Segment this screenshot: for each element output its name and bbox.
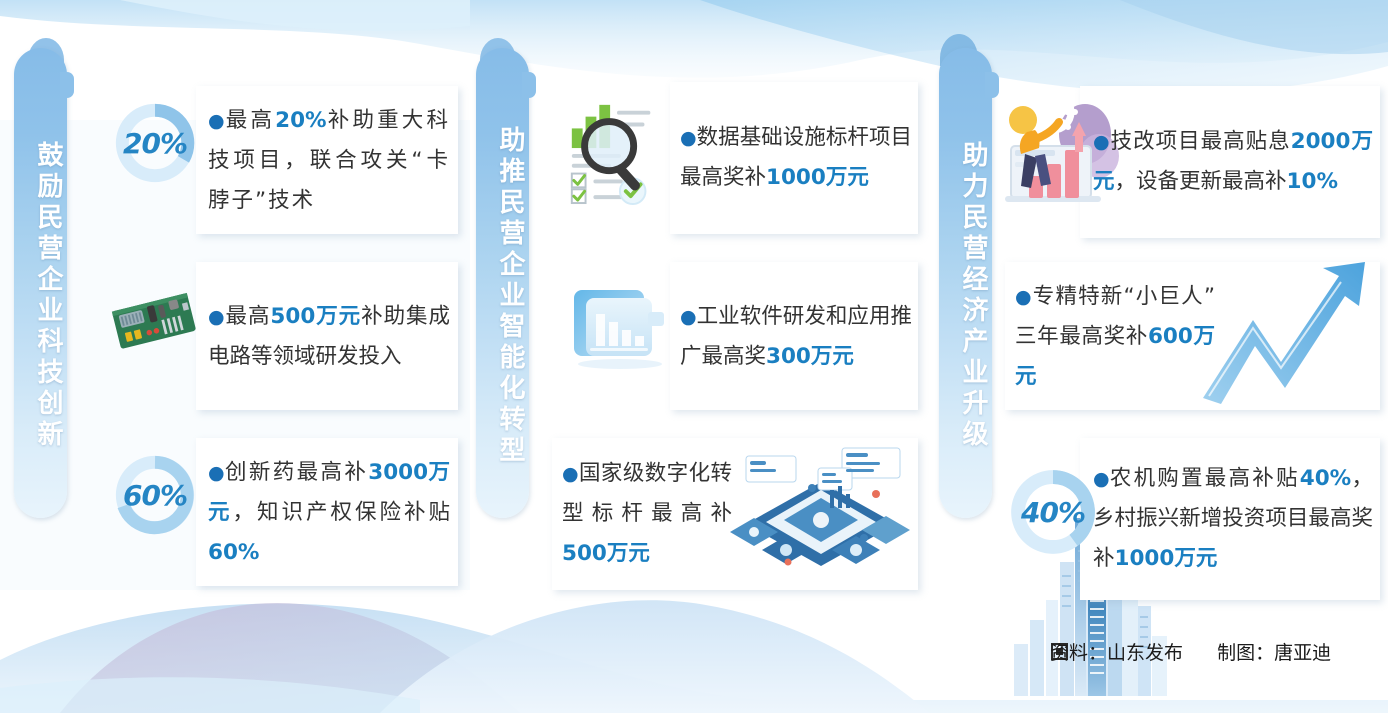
column-banner-label: 鼓励民营企业科技创新: [14, 48, 67, 518]
donut-chart-20: 20%: [112, 100, 198, 186]
donut-chart-40: 40%: [1007, 466, 1099, 558]
item-text: ●国家级数字化转型标杆最高补500万元: [562, 454, 732, 574]
item-text-value2: 10%: [1287, 169, 1338, 194]
bullet-icon: ●: [680, 306, 697, 328]
source-label: 资料：山东发布: [1050, 642, 1183, 664]
magnifier-checklist-icon: [562, 88, 670, 214]
item-text-lead: 技改项目最高贴息: [1111, 129, 1291, 154]
bullet-icon: ●: [208, 462, 225, 484]
item-text-value: 300万元: [766, 344, 854, 369]
item-text-lead: 最高: [226, 108, 275, 133]
card-text-block: ●农机购置最高补贴40%，乡村振兴新增投资项目最高奖补1000万元: [1093, 444, 1373, 594]
item-text-lead: 最高: [226, 304, 271, 329]
item-text-value: 1000万元: [766, 165, 869, 190]
item-text-value2: 60%: [208, 540, 259, 565]
card-text-block: ●国家级数字化转型标杆最高补500万元: [562, 444, 732, 584]
bullet-icon: ●: [208, 306, 226, 328]
column-industry-upgrade: 助力民营经济产业升级: [925, 0, 1388, 713]
donut-chart-60: 60%: [112, 452, 198, 538]
bullet-icon: ●: [1093, 131, 1111, 153]
card-text-block: ●最高500万元补助集成电路等领域研发投入: [208, 268, 450, 406]
card-text-block: ●专精特新“小巨人”三年最高奖补600万元: [1015, 268, 1215, 406]
column-intelligent-transformation: 助推民营企业智能化转型: [462, 0, 932, 713]
card-text-block: ●工业软件研发和应用推广最高奖300万元: [680, 268, 912, 406]
bullet-icon: ●: [1015, 286, 1033, 308]
item-text-lead: 国家级数字化转型标杆最高补: [562, 461, 732, 526]
item-text-lead: 创新药最高补: [225, 460, 368, 485]
item-text-value: 500万元: [270, 304, 361, 329]
bullet-icon: ●: [680, 127, 697, 149]
item-text: ●数据基础设施标杆项目最高奖补1000万元: [680, 118, 912, 198]
item-text-mid: ，知识产权保险补贴: [233, 500, 450, 525]
rising-arrow-svg: [1195, 258, 1377, 408]
item-text: ●技改项目最高贴息2000万元，设备更新最高补10%: [1093, 122, 1373, 202]
donut-value-label: 40%: [1007, 466, 1099, 558]
magnifier-checklist-svg: [562, 88, 670, 214]
column-banner-label: 助推民营企业智能化转型: [476, 48, 529, 518]
footer-credit: 资料：山东发布 制图：唐亚迪: [1050, 638, 1331, 665]
card-text-block: ●数据基础设施标杆项目最高奖补1000万元: [680, 88, 912, 228]
bar-chart-card-svg: [570, 278, 672, 374]
item-text: ●农机购置最高补贴40%，乡村振兴新增投资项目最高奖补1000万元: [1093, 459, 1373, 579]
item-text: ●最高20%补助重大科技项目，联合攻关“卡脖子”技术: [208, 101, 450, 221]
isometric-digital-city-icon: [726, 442, 916, 588]
item-text-value: 40%: [1300, 466, 1351, 491]
designer-label: 制图：唐亚迪: [1217, 642, 1331, 664]
item-text: ●专精特新“小巨人”三年最高奖补600万元: [1015, 277, 1215, 397]
item-text: ●工业软件研发和应用推广最高奖300万元: [680, 297, 912, 377]
column-banner-label: 助力民营经济产业升级: [939, 48, 992, 518]
item-text-value2: 1000万元: [1115, 546, 1218, 571]
bullet-icon: ●: [562, 463, 579, 485]
card-text-block: ●技改项目最高贴息2000万元，设备更新最高补10%: [1093, 92, 1373, 232]
circuit-board-svg: [108, 278, 200, 364]
item-text-value: 500万元: [562, 541, 650, 566]
bullet-icon: ●: [1093, 468, 1110, 490]
donut-value-label: 60%: [112, 452, 198, 538]
rising-arrow-icon: [1195, 258, 1377, 408]
column-tech-innovation: 鼓励民营企业科技创新 20% ●最高20%补助重大科技项目，联合攻关“卡脖子”技…: [0, 0, 470, 713]
circuit-board-icon: [108, 278, 200, 364]
card-text-block: ●创新药最高补3000万元，知识产权保险补贴60%: [208, 444, 450, 582]
donut-value-label: 20%: [112, 100, 198, 186]
infographic-canvas: 鼓励民营企业科技创新 20% ●最高20%补助重大科技项目，联合攻关“卡脖子”技…: [0, 0, 1388, 713]
item-text-mid: ，设备更新最高补: [1115, 169, 1287, 194]
card-text-block: ●最高20%补助重大科技项目，联合攻关“卡脖子”技术: [208, 92, 450, 230]
bullet-icon: ●: [208, 110, 226, 132]
item-text-lead: 农机购置最高补贴: [1110, 466, 1300, 491]
isometric-digital-city-svg: [726, 442, 916, 588]
item-text: ●创新药最高补3000万元，知识产权保险补贴60%: [208, 453, 450, 573]
item-text: ●最高500万元补助集成电路等领域研发投入: [208, 297, 450, 377]
bar-chart-card-icon: [570, 278, 672, 374]
item-text-value: 20%: [275, 108, 326, 133]
